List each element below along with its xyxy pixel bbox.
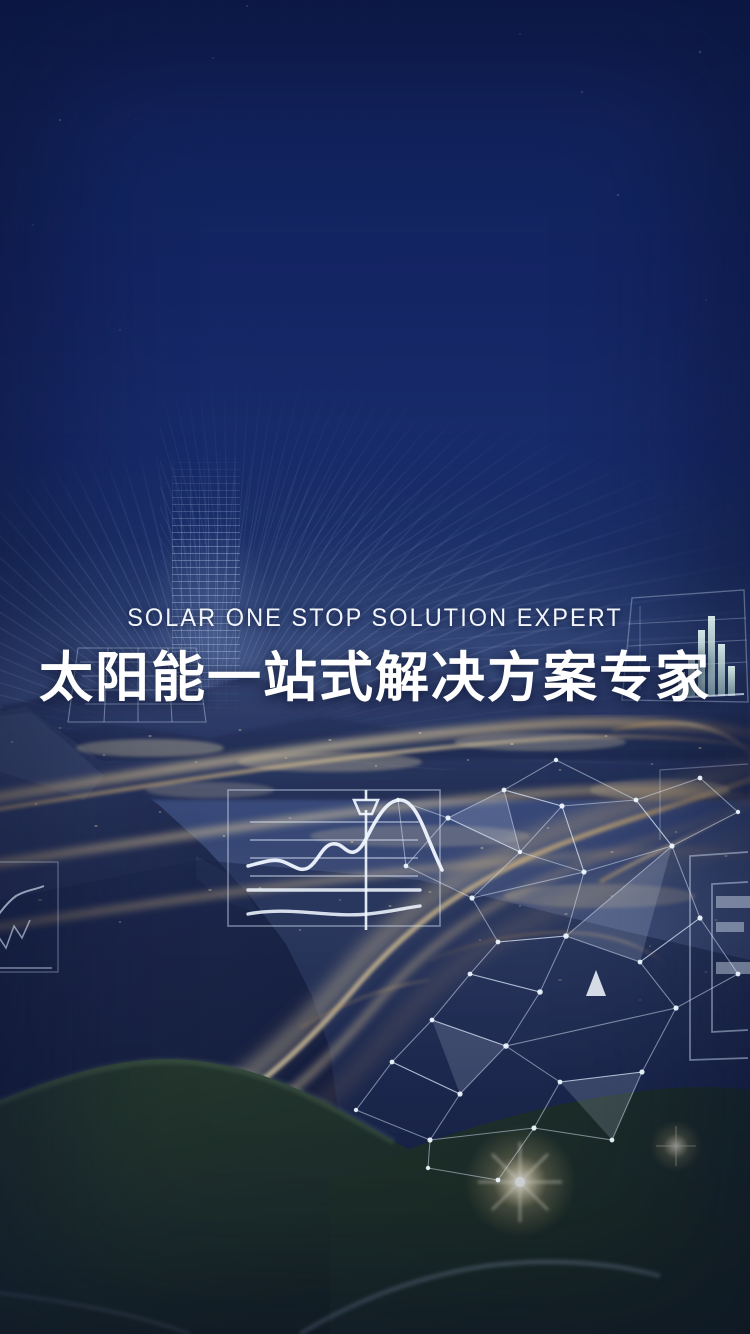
chart-marker — [354, 790, 378, 930]
hero-headline: 太阳能一站式解决方案专家 — [0, 649, 750, 706]
marker-cone — [586, 970, 606, 996]
hero-copy: SOLAR ONE STOP SOLUTION EXPERT 太阳能一站式解决方… — [0, 604, 750, 706]
mini-chart-hud — [0, 862, 58, 972]
hero-eyebrow: SOLAR ONE STOP SOLUTION EXPERT — [23, 604, 728, 633]
chart-curve — [248, 800, 442, 870]
line-chart-hud — [228, 790, 442, 930]
bracket-frame-hud — [690, 852, 750, 1060]
bracket-frame-hud-upper — [660, 764, 748, 840]
hero-banner: SOLAR ONE STOP SOLUTION EXPERT 太阳能一站式解决方… — [0, 0, 750, 1334]
